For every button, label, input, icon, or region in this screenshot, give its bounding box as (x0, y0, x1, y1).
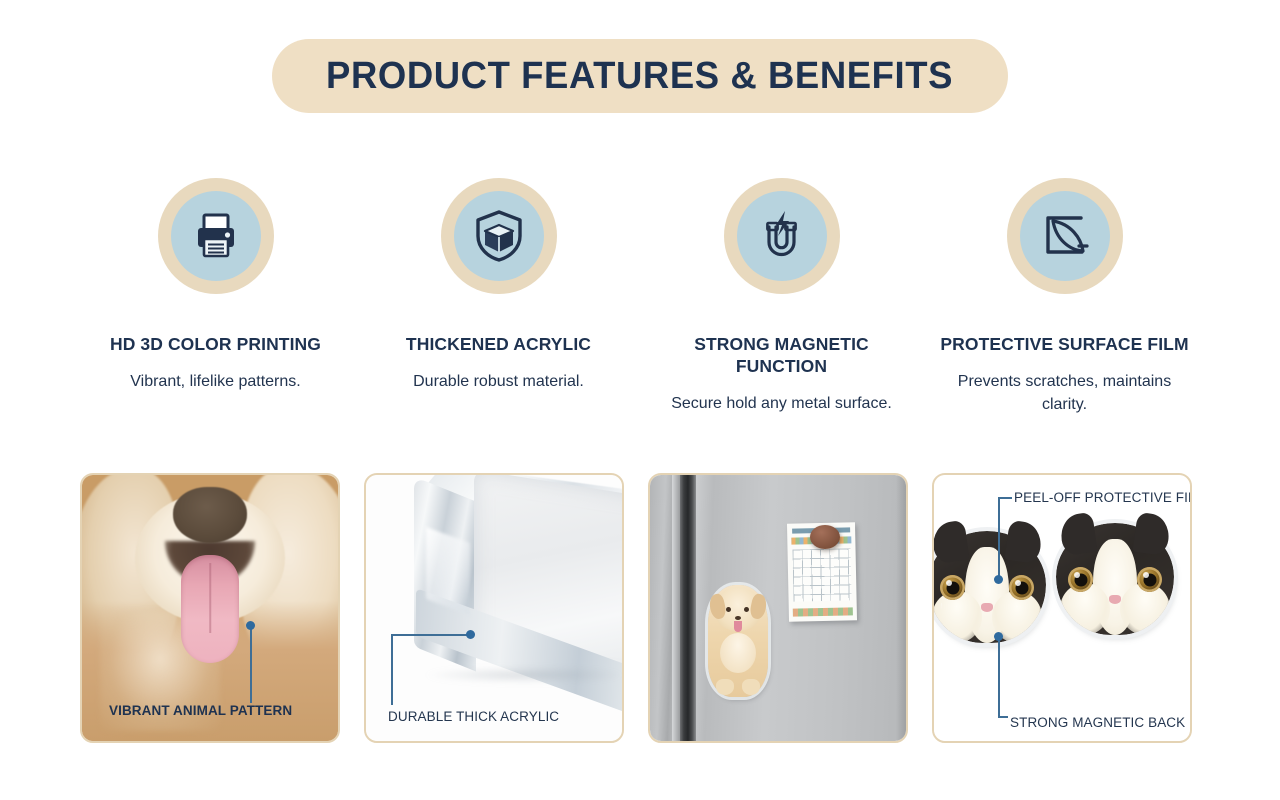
feature-title: HD 3D COLOR PRINTING (110, 333, 321, 355)
feature-description: Durable robust material. (413, 370, 584, 393)
cat-magnets-image (934, 475, 1190, 741)
feature-title: THICKENED ACRYLIC (406, 333, 591, 355)
feature-item-hd-3d-color-printing: HD 3D COLOR PRINTING Vibrant, lifelike p… (74, 178, 357, 416)
annotation-label-strong-magnetic-back: STRONG MAGNETIC BACK (1010, 715, 1185, 730)
annotation-label-durable-thick-acrylic: DURABLE THICK ACRYLIC (388, 709, 559, 724)
title-pill: PRODUCT FEATURES & BENEFITS (272, 39, 1008, 113)
annotation-dot (246, 621, 255, 630)
feature-title: STRONG MAGNETIC FUNCTION (657, 333, 907, 377)
cat-magnet-left (934, 531, 1046, 643)
annotation-elbow-top (998, 497, 1012, 499)
annotation-label-peel-off-protective-film: PEEL-OFF PROTECTIVE FILM (1014, 490, 1192, 505)
page-header: PRODUCT FEATURES & BENEFITS (0, 39, 1280, 113)
shield-cube-icon (454, 191, 544, 281)
annotation-label-vibrant-animal-pattern: VIBRANT ANIMAL PATTERN (109, 703, 292, 718)
annotation-leader-line-bottom (998, 638, 1000, 717)
annotation-elbow-bottom (998, 716, 1008, 718)
annotation-leader-line-horizontal (391, 634, 469, 636)
annotation-leader-line-vertical (391, 634, 393, 705)
dog-closeup-image (82, 475, 338, 741)
icon-badge-acrylic (441, 178, 557, 294)
dome-magnet (810, 525, 840, 549)
icon-badge-magnet (724, 178, 840, 294)
magnet-bolt-icon (737, 191, 827, 281)
page-title: PRODUCT FEATURES & BENEFITS (327, 55, 954, 98)
dog-shaped-magnet (708, 585, 768, 697)
feature-item-strong-magnetic-function: STRONG MAGNETIC FUNCTION Secure hold any… (640, 178, 923, 416)
cat-magnet-right (1056, 523, 1174, 635)
photo-card-dog-closeup: VIBRANT ANIMAL PATTERN (80, 473, 340, 743)
acrylic-block-image (366, 475, 622, 741)
feature-title: PROTECTIVE SURFACE FILM (940, 333, 1188, 355)
photo-card-cat-magnets: PEEL-OFF PROTECTIVE FILM STRONG MAGNETIC… (932, 473, 1192, 743)
annotation-dot-bottom (994, 632, 1003, 641)
annotation-leader-line-top (998, 497, 1000, 579)
feature-list: HD 3D COLOR PRINTING Vibrant, lifelike p… (74, 178, 1206, 416)
photo-card-acrylic-block: DURABLE THICK ACRYLIC (364, 473, 624, 743)
photo-card-row: VIBRANT ANIMAL PATTERN DURABLE THICK ACR… (80, 473, 1192, 743)
feature-item-protective-surface-film: PROTECTIVE SURFACE FILM Prevents scratch… (923, 178, 1206, 416)
photo-card-fridge-magnet (648, 473, 908, 743)
peel-film-icon (1020, 191, 1110, 281)
annotation-dot (466, 630, 475, 639)
annotation-leader-line (250, 627, 252, 703)
feature-item-thickened-acrylic: THICKENED ACRYLIC Durable robust materia… (357, 178, 640, 416)
fridge-magnet-image (650, 475, 906, 741)
annotation-dot-top (994, 575, 1003, 584)
feature-description: Secure hold any metal surface. (671, 392, 892, 415)
printer-icon (171, 191, 261, 281)
icon-badge-film (1007, 178, 1123, 294)
feature-description: Vibrant, lifelike patterns. (130, 370, 300, 393)
icon-badge-printing (158, 178, 274, 294)
feature-description: Prevents scratches, maintains clarity. (950, 370, 1180, 416)
